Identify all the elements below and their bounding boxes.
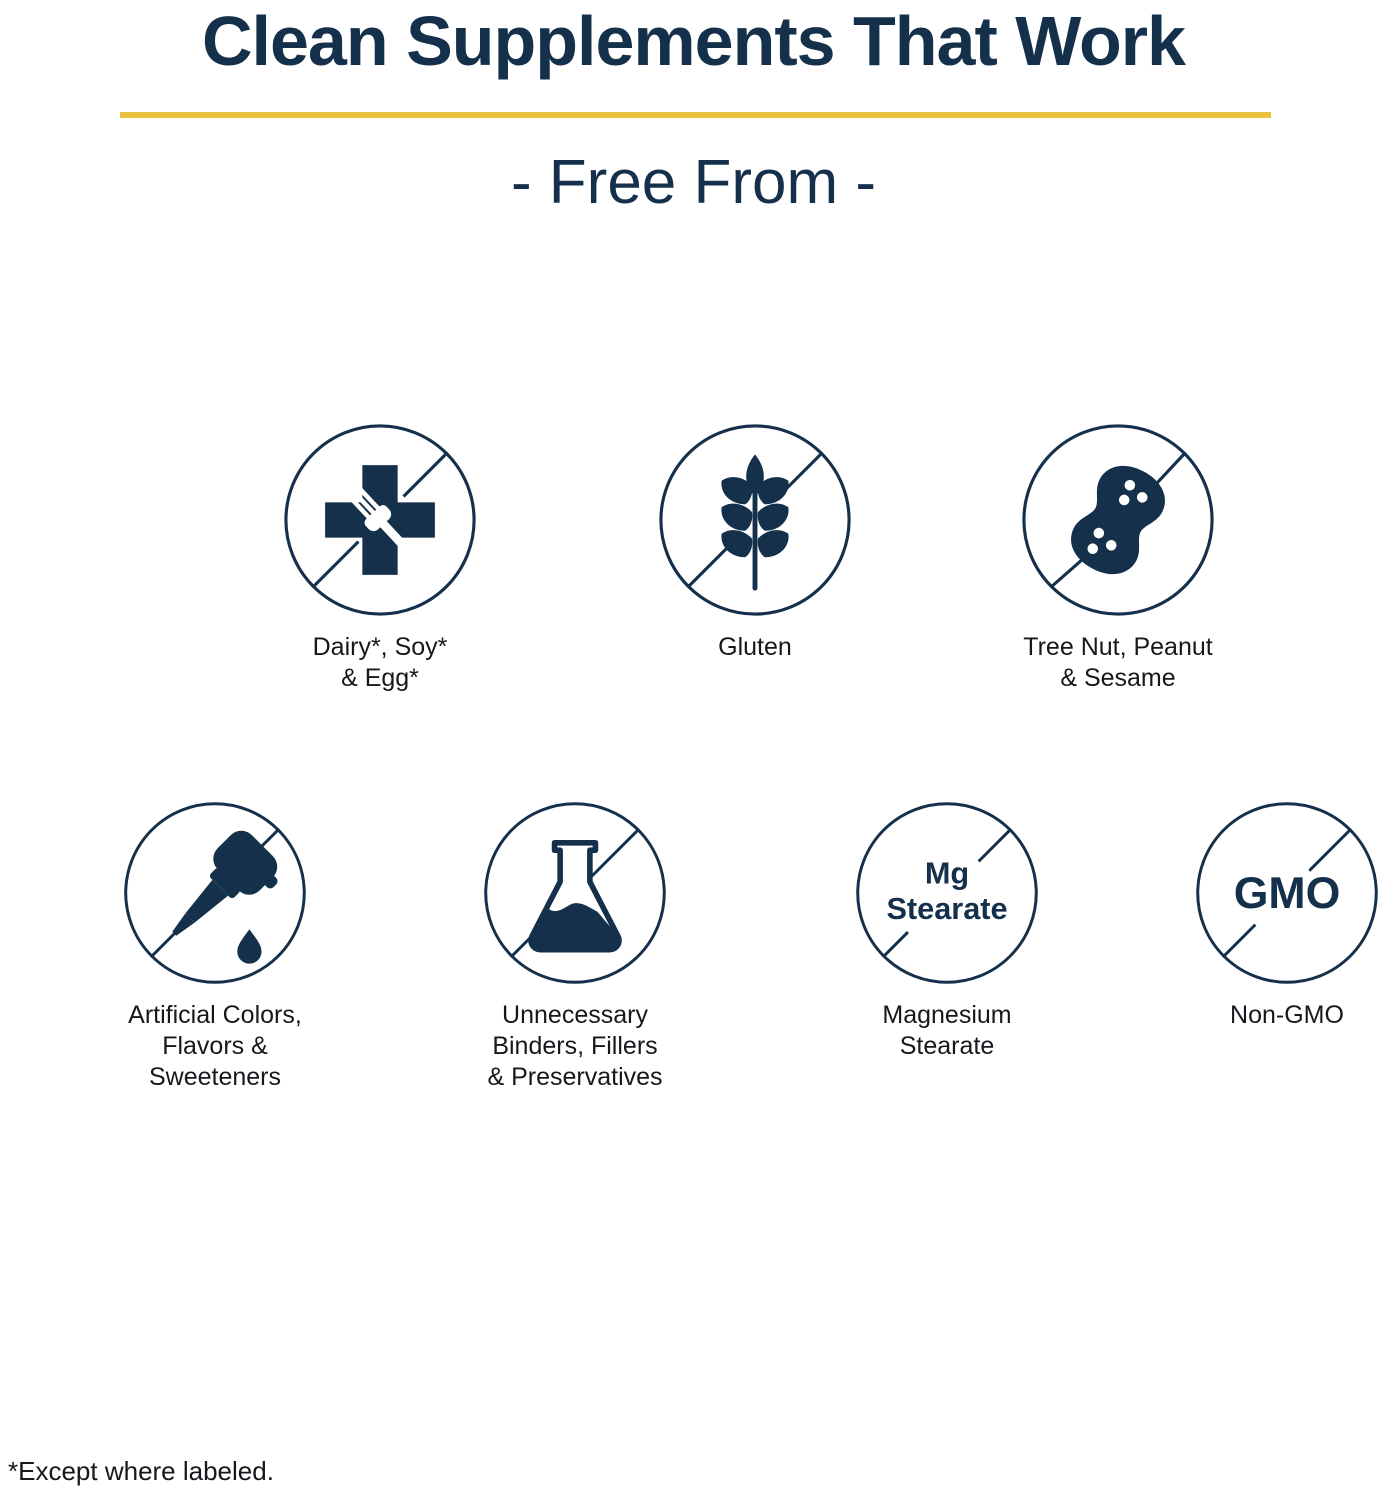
badge-binders-fillers: Unnecessary Binders, Fillers & Preservat… [410,800,740,1093]
badge-label: Tree Nut, Peanut & Sesame [948,632,1288,694]
badge-label: Non-GMO [1122,1000,1387,1031]
gold-divider [120,112,1271,118]
free-from-infographic: Clean Supplements That Work - Free From … [0,0,1387,1500]
icon-text-line-1: GMO [1234,869,1341,918]
no-magnesium-stearate-icon: Mg Stearate [854,800,1040,986]
badge-dairy-soy-egg: Dairy*, Soy* & Egg* [210,422,550,694]
no-binders-fillers-icon [482,800,668,986]
badge-label: Magnesium Stearate [782,1000,1112,1062]
no-tree-nut-peanut-sesame-icon [1020,422,1216,618]
page-subtitle: - Free From - [0,143,1387,223]
no-gmo-icon: GMO [1194,800,1380,986]
icon-text-line-1: Mg [925,856,969,891]
footnote: *Except where labeled. [8,1455,274,1487]
no-gluten-icon [657,422,853,618]
page-title: Clean Supplements That Work [0,2,1387,80]
badge-label: Artificial Colors, Flavors & Sweeteners [50,1000,380,1093]
badge-magnesium-stearate: Mg Stearate Magnesium Stearate [782,800,1112,1062]
icon-text-line-2: Stearate [886,891,1007,926]
no-dairy-soy-egg-icon [282,422,478,618]
no-artificial-colors-icon [122,800,308,986]
badge-artificial-colors: Artificial Colors, Flavors & Sweeteners [50,800,380,1093]
badge-gluten: Gluten [585,422,925,663]
badge-label: Dairy*, Soy* & Egg* [210,632,550,694]
badge-tree-nut-peanut-sesame: Tree Nut, Peanut & Sesame [948,422,1288,694]
badge-label: Unnecessary Binders, Fillers & Preservat… [410,1000,740,1093]
badge-non-gmo: GMO Non-GMO [1122,800,1387,1031]
badge-label: Gluten [585,632,925,663]
